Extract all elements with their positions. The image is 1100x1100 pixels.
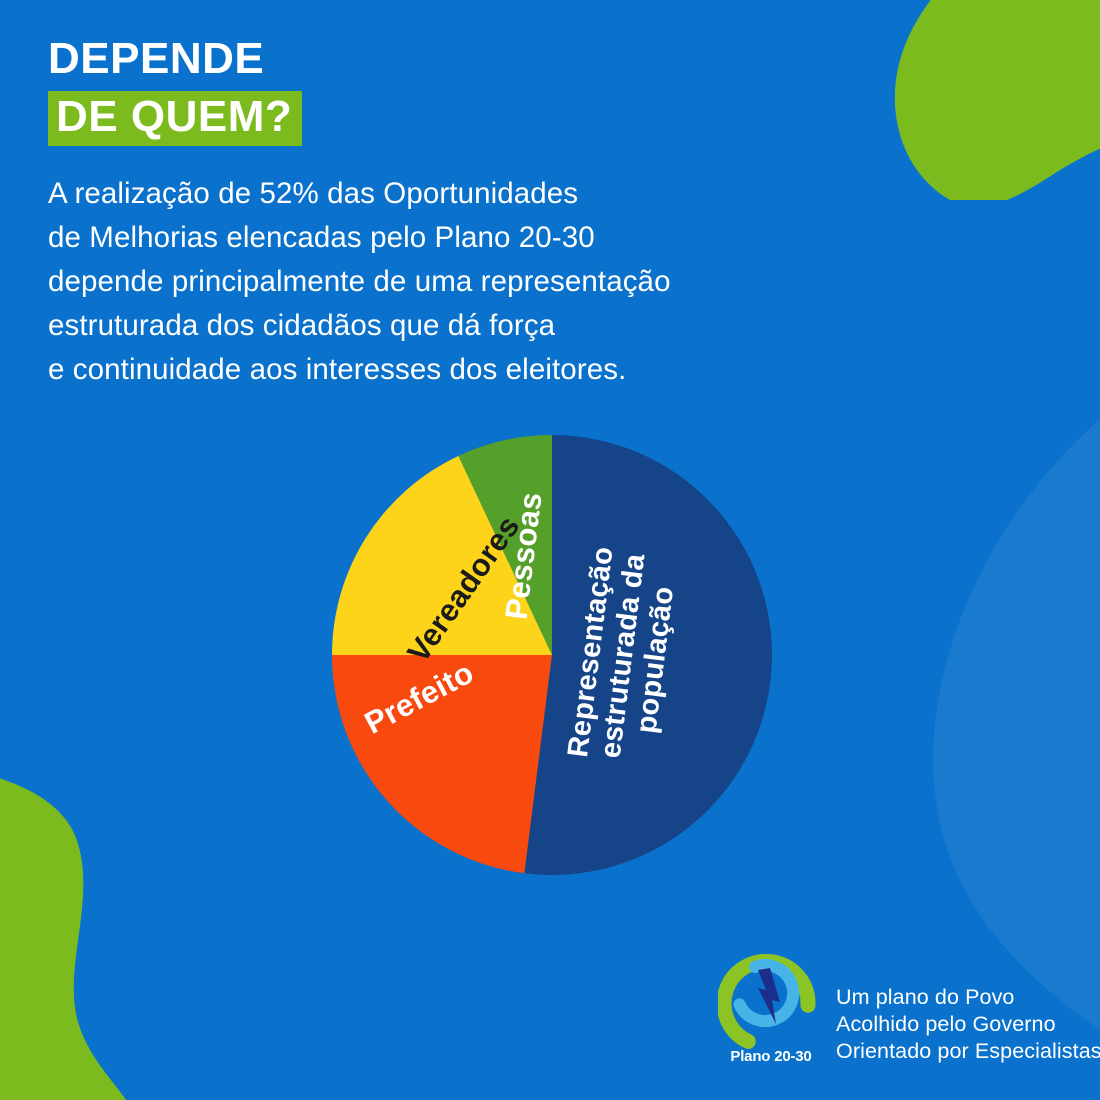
headline-line-2-highlighted: DE QUEM?: [48, 91, 302, 147]
body-line: de Melhorias elencadas pelo Plano 20-30: [48, 216, 928, 260]
logo-caption: Plano 20-30: [712, 1048, 830, 1065]
footer-branding: Plano 20-30 Um plano do Povo Acolhido pe…: [712, 946, 1100, 1076]
body-line: estruturada dos cidadãos que dá força: [48, 304, 928, 348]
green-blob-bottom-left: [0, 770, 190, 1100]
tagline-line: Um plano do Povo: [836, 984, 1100, 1011]
headline-group: DEPENDE DE QUEM?: [48, 36, 302, 146]
tagline-line: Orientado por Especialistas: [836, 1038, 1100, 1065]
plano-2030-swirl-bolt-logo-icon: [718, 946, 826, 1050]
headline-line-1: DEPENDE: [48, 36, 302, 83]
body-line: depende principalmente de uma representa…: [48, 260, 928, 304]
pie-chart-svg: PessoasVereadoresPrefeitoRepresentaçãoes…: [332, 435, 772, 875]
tagline-line: Acolhido pelo Governo: [836, 1011, 1100, 1038]
pie-chart: PessoasVereadoresPrefeitoRepresentaçãoes…: [332, 435, 772, 875]
body-line: e continuidade aos interesses dos eleito…: [48, 348, 928, 392]
body-paragraph: A realização de 52% das Oportunidades de…: [48, 172, 928, 392]
poster-canvas: DEPENDE DE QUEM? A realização de 52% das…: [0, 0, 1100, 1100]
green-blob-top-right: [860, 0, 1100, 200]
logo-block: Plano 20-30: [712, 946, 830, 1076]
body-line: A realização de 52% das Oportunidades: [48, 172, 928, 216]
tagline-group: Um plano do Povo Acolhido pelo Governo O…: [836, 946, 1100, 1065]
